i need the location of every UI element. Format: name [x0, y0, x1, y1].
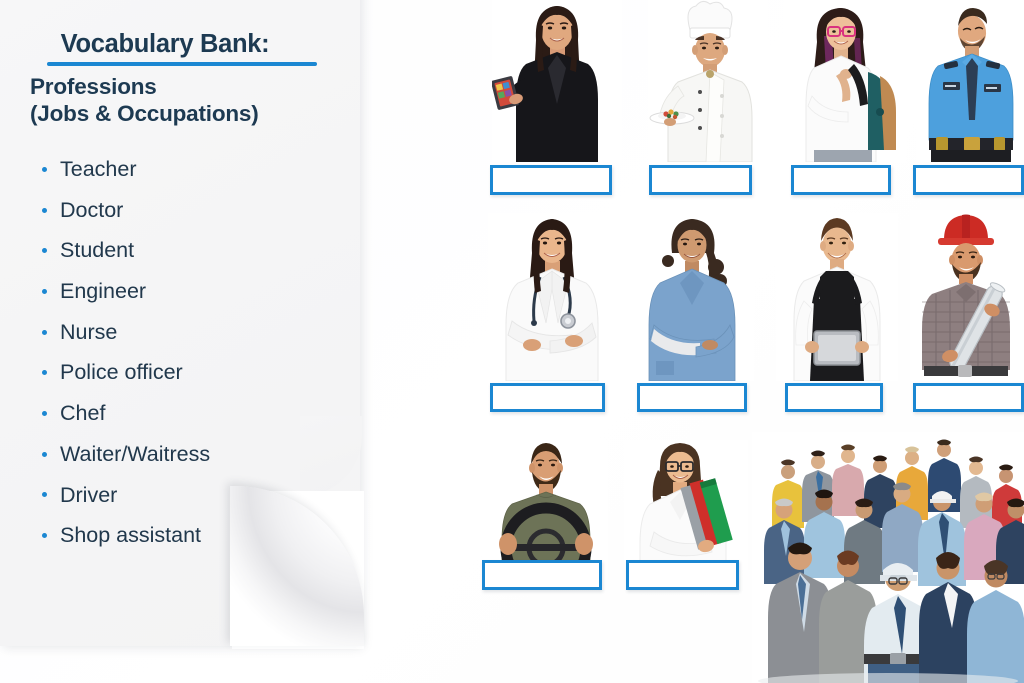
answer-box[interactable]	[637, 383, 747, 412]
engineer-with-hardhat-photo	[910, 210, 1024, 381]
photo-grid	[0, 0, 1024, 683]
photo-cell	[784, 0, 906, 162]
teacher-with-folders-photo	[624, 440, 748, 570]
photo-cell	[910, 210, 1024, 381]
waiter-with-apron-photo	[776, 213, 898, 381]
answer-box[interactable]	[913, 165, 1024, 195]
photo-cell	[630, 213, 754, 381]
group-of-professionals-photo	[752, 432, 1024, 683]
answer-box[interactable]	[626, 560, 739, 590]
photo-cell	[916, 0, 1024, 162]
answer-box[interactable]	[791, 165, 891, 195]
chef-with-plate-photo	[648, 0, 768, 162]
answer-box[interactable]	[649, 165, 752, 195]
answer-box[interactable]	[490, 165, 612, 195]
answer-box[interactable]	[482, 560, 602, 590]
answer-box[interactable]	[490, 383, 605, 412]
photo-cell	[488, 213, 616, 381]
nurse-in-scrubs-photo	[630, 213, 754, 381]
photo-cell	[492, 0, 622, 162]
student-with-backpack-photo	[784, 0, 906, 162]
photo-cell	[648, 0, 768, 162]
photo-cell	[624, 440, 748, 570]
businesswoman-with-tablet-photo	[492, 0, 622, 162]
police-officer-photo	[916, 0, 1024, 162]
driver-with-steering-wheel-photo	[484, 440, 608, 580]
doctor-with-stethoscope-photo	[488, 213, 616, 381]
answer-box[interactable]	[913, 383, 1024, 412]
photo-cell	[484, 440, 608, 580]
photo-cell	[776, 213, 898, 381]
worksheet-canvas: Vocabulary Bank: Professions (Jobs & Occ…	[0, 0, 1024, 683]
answer-box[interactable]	[785, 383, 883, 412]
